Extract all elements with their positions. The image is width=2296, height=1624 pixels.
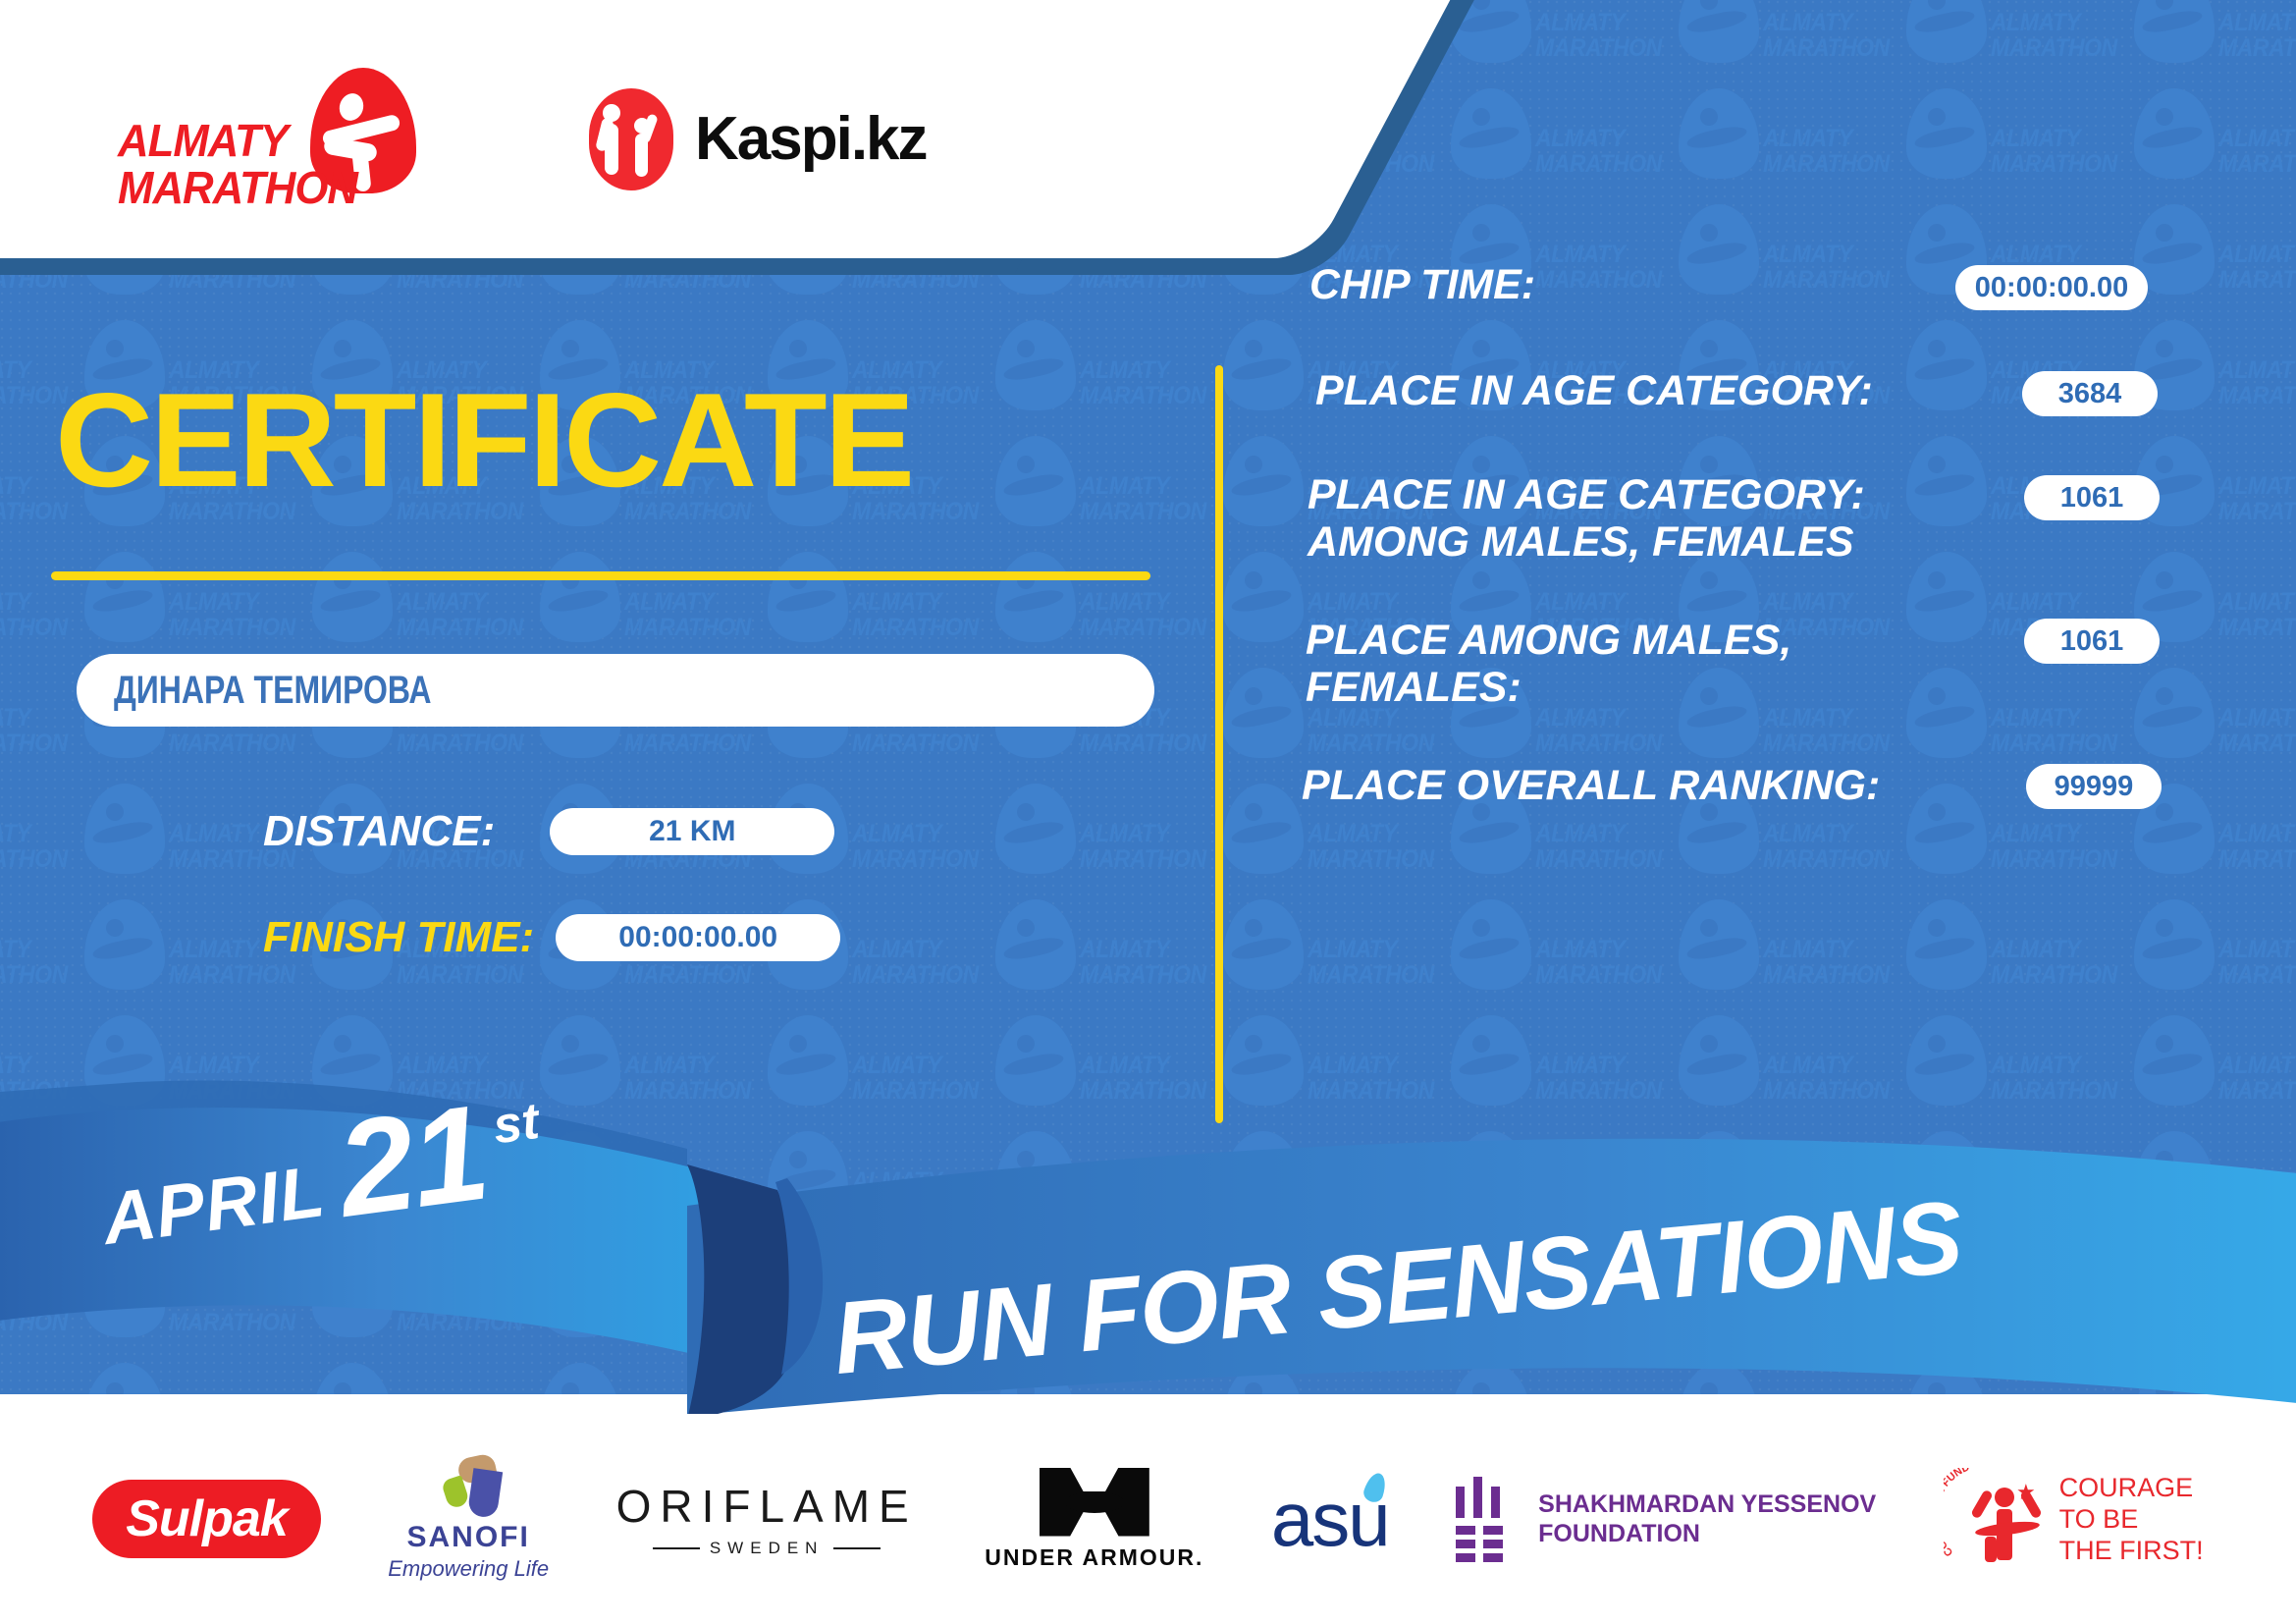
event-day-suffix: st (490, 1092, 543, 1157)
stats-column: CHIP TIME: 00:00:00.00 PLACE IN AGE CATE… (1266, 247, 2296, 809)
stat-row-place-among-gender: PLACE AMONG MALES, FEMALES: 1061 (1266, 617, 2296, 711)
participant-name-value: ДИНАРА ТЕМИРОВА (114, 669, 432, 713)
watermark-drop-icon (1906, 899, 1987, 990)
watermark-tile: ALMATYMARATHON (1763, 897, 1991, 1013)
almaty-marathon-line2: MARATHON (118, 164, 357, 211)
kaspi-wordmark: Kaspi.kz (695, 104, 927, 174)
stat-row-place-age-category-gender: PLACE IN AGE CATEGORY: AMONG MALES, FEMA… (1266, 471, 2296, 566)
sanofi-tagline: Empowering Life (388, 1556, 549, 1582)
distance-label: DISTANCE: (263, 807, 495, 856)
sanofi-glyph-icon (427, 1456, 509, 1517)
stat-value-chip-time: 00:00:00.00 (1955, 265, 2148, 310)
watermark-text: ALMATYMARATHON (1763, 821, 1890, 872)
stat-label-place-overall: PLACE OVERALL RANKING: (1302, 762, 1880, 809)
watermark-drop-icon (2134, 88, 2215, 179)
watermark-tile: ALMATYMARATHON (1308, 897, 1535, 1013)
sponsor-corporate-fund: CORPORATE FUND ★ COURAGE TO BE THE FIRST… (1944, 1468, 2204, 1570)
oriflame-tagline: SWEDEN (710, 1539, 825, 1558)
watermark-text: ALMATYMARATHON (1535, 10, 1662, 61)
watermark-text: ALMATYMARATHON (1308, 821, 1434, 872)
kaspi-logo: Kaspi.kz (589, 88, 927, 190)
kaspi-people-icon (589, 88, 673, 190)
distance-row: DISTANCE: 21 KM (263, 807, 834, 856)
watermark-text: ALMATYMARATHON (1763, 126, 1890, 177)
stat-label-place-among-gender: PLACE AMONG MALES, FEMALES: (1306, 617, 1791, 711)
yessenov-bars-icon (1456, 1477, 1517, 1561)
sponsor-asu: asu (1271, 1475, 1389, 1564)
column-divider (1215, 365, 1223, 1123)
watermark-tile: ALMATYMARATHON (1991, 86, 2218, 202)
stat-row-place-overall: PLACE OVERALL RANKING: 99999 (1266, 762, 2296, 809)
header-content: ALMATY MARATHON Kaspi.kz (0, 0, 1264, 278)
watermark-tile: ALMATYMARATHON (1535, 897, 1763, 1013)
stat-value-place-among-gender: 1061 (2024, 619, 2160, 664)
stat-value-place-overall: 99999 (2026, 764, 2162, 809)
almaty-marathon-line1: ALMATY (118, 117, 357, 164)
watermark-text: ALMATYMARATHON (1308, 937, 1434, 988)
watermark-drop-icon (2134, 0, 2215, 63)
watermark-text: ALMATYMARATHON (1991, 126, 2117, 177)
participant-name-field[interactable]: ДИНАРА ТЕМИРОВА (77, 654, 1154, 727)
sponsor-sanofi: SANOFI Empowering Life (388, 1456, 549, 1582)
stat-label-place-age-category: PLACE IN AGE CATEGORY: (1315, 367, 1873, 414)
watermark-text: ALMATYMARATHON (2218, 937, 2296, 988)
watermark-text: ALMATYMARATHON (1535, 821, 1662, 872)
sponsor-bar: Sulpak SANOFI Empowering Life ORIFLAME S… (0, 1414, 2296, 1624)
under-armour-icon (1040, 1468, 1149, 1537)
watermark-drop-icon (1906, 88, 1987, 179)
oriflame-wordmark: ORIFLAME (616, 1480, 918, 1533)
watermark-tile: ALMATYMARATHON (1991, 0, 2218, 86)
certificate-canvas: ALMATYMARATHONALMATYMARATHONALMATYMARATH… (0, 0, 2296, 1624)
watermark-drop-icon (1679, 0, 1759, 63)
watermark-text: ALMATYMARATHON (1991, 937, 2117, 988)
watermark-tile: ALMATYMARATHON (2218, 897, 2296, 1013)
watermark-drop-icon (1223, 899, 1304, 990)
yessenov-wordmark: SHAKHMARDAN YESSENOV FOUNDATION (1538, 1489, 1876, 1548)
watermark-drop-icon (1451, 88, 1531, 179)
courage-wordmark: COURAGE TO BE THE FIRST! (2059, 1472, 2204, 1566)
watermark-tile: ALMATYMARATHON (1535, 86, 1763, 202)
watermark-text: ALMATYMARATHON (2218, 126, 2296, 177)
svg-text:CORPORATE FUND: CORPORATE FUND (1944, 1468, 1971, 1558)
sulpak-wordmark: Sulpak (92, 1480, 321, 1558)
watermark-tile: ALMATYMARATHON (2218, 0, 2296, 86)
oriflame-rule-right (833, 1547, 881, 1549)
page-title: CERTIFICATE (55, 371, 912, 509)
watermark-tile: ALMATYMARATHON (1763, 0, 1991, 86)
watermark-text: ALMATYMARATHON (1763, 10, 1890, 61)
oriflame-rule-left (653, 1547, 700, 1549)
watermark-drop-icon (1906, 0, 1987, 63)
finish-time-row: FINISH TIME: 00:00:00.00 (263, 913, 840, 962)
watermark-text: ALMATYMARATHON (1763, 937, 1890, 988)
watermark-tile: ALMATYMARATHON (2218, 86, 2296, 202)
watermark-drop-icon (1679, 88, 1759, 179)
event-day: 21 (332, 1094, 493, 1229)
watermark-tile: ALMATYMARATHON (1763, 86, 1991, 202)
watermark-drop-icon (2134, 899, 2215, 990)
watermark-drop-icon (1451, 899, 1531, 990)
watermark-text: ALMATYMARATHON (2218, 821, 2296, 872)
sponsor-sulpak: Sulpak (92, 1480, 321, 1558)
finish-time-value: 00:00:00.00 (556, 914, 840, 961)
watermark-text: ALMATYMARATHON (1535, 937, 1662, 988)
finish-time-label: FINISH TIME: (263, 913, 534, 962)
stat-row-chip-time: CHIP TIME: 00:00:00.00 (1266, 261, 2296, 308)
courage-runner-icon: ★ (1977, 1482, 2038, 1562)
title-underline-rule (51, 571, 1150, 580)
watermark-tile: ALMATYMARATHON (1535, 0, 1763, 86)
watermark-text: ALMATYMARATHON (1991, 10, 2117, 61)
sponsor-yessenov-foundation: SHAKHMARDAN YESSENOV FOUNDATION (1456, 1477, 1876, 1561)
stat-label-chip-time: CHIP TIME: (1309, 261, 1535, 308)
stat-value-place-age-category: 3684 (2022, 371, 2158, 416)
sponsor-oriflame: ORIFLAME SWEDEN (616, 1480, 918, 1558)
distance-value: 21 KM (550, 808, 834, 855)
almaty-marathon-logo: ALMATY MARATHON (118, 66, 442, 213)
under-armour-wordmark: UNDER ARMOUR. (985, 1544, 1203, 1571)
stat-label-place-age-category-gender: PLACE IN AGE CATEGORY: AMONG MALES, FEMA… (1308, 471, 1865, 566)
sponsor-under-armour: UNDER ARMOUR. (985, 1468, 1203, 1571)
stat-row-place-age-category: PLACE IN AGE CATEGORY: 3684 (1266, 367, 2296, 414)
sanofi-wordmark: SANOFI (388, 1521, 549, 1554)
watermark-text: ALMATYMARATHON (2218, 10, 2296, 61)
watermark-text: ALMATYMARATHON (1991, 821, 2117, 872)
stat-value-place-age-category-gender: 1061 (2024, 475, 2160, 520)
watermark-tile: ALMATYMARATHON (1991, 897, 2218, 1013)
almaty-marathon-wordmark: ALMATY MARATHON (118, 117, 357, 211)
watermark-text: ALMATYMARATHON (1535, 126, 1662, 177)
watermark-drop-icon (1679, 899, 1759, 990)
